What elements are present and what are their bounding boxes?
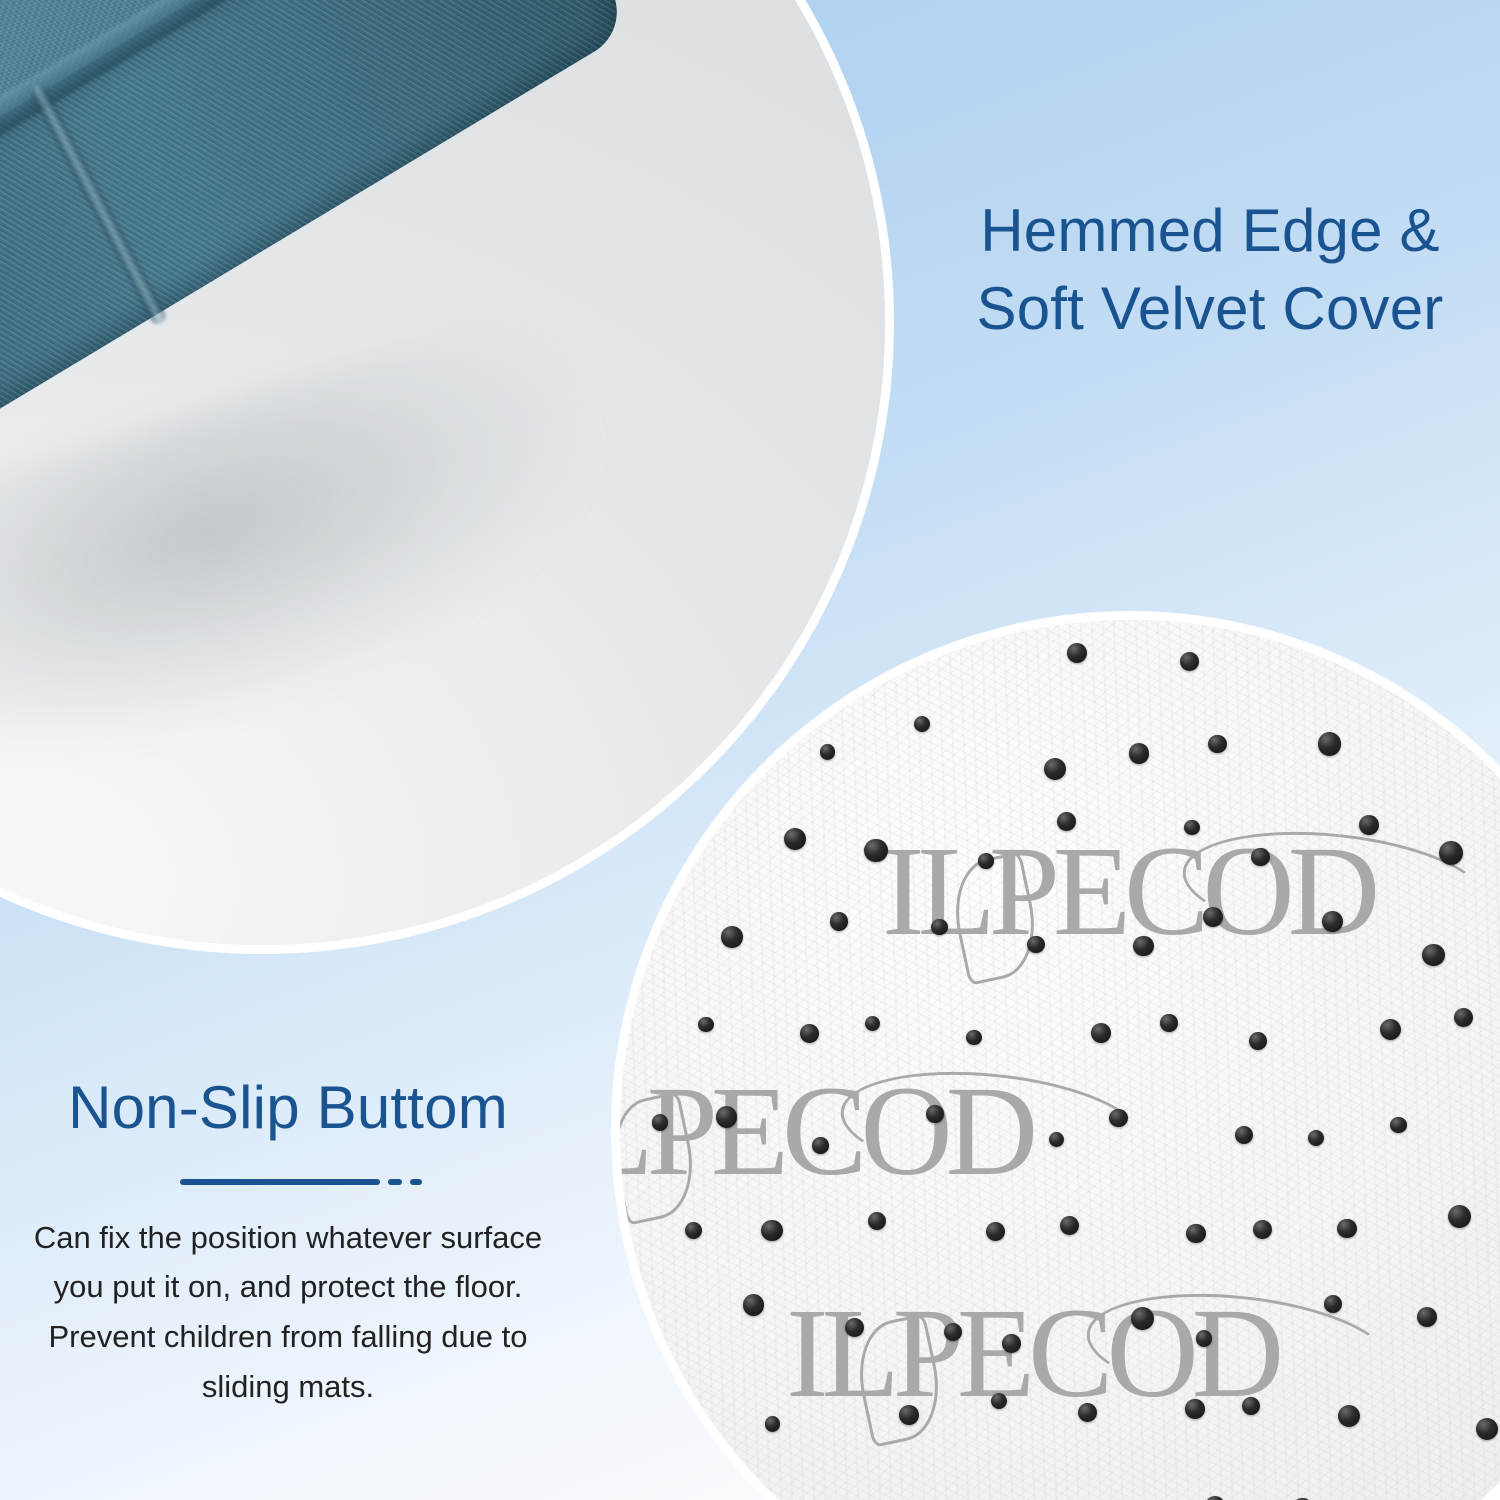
grip-dot bbox=[1338, 1405, 1360, 1427]
grip-dot bbox=[743, 1294, 765, 1316]
grip-dot bbox=[1205, 1496, 1225, 1500]
grip-dot bbox=[1380, 1019, 1401, 1040]
feature-headline-hemmed-edge: Hemmed Edge & Soft Velvet Cover bbox=[930, 192, 1490, 348]
grip-dot bbox=[761, 1220, 783, 1242]
grip-dot bbox=[1186, 1224, 1206, 1244]
grip-dot bbox=[1454, 1008, 1473, 1027]
grip-dot bbox=[1002, 1334, 1021, 1353]
body-line-1: Can fix the position whatever surface bbox=[8, 1213, 568, 1263]
grip-dot bbox=[845, 1318, 864, 1337]
grip-dot bbox=[899, 1405, 919, 1425]
feature-title-non-slip: Non-Slip Buttom bbox=[8, 1076, 568, 1141]
grip-dot bbox=[784, 828, 806, 850]
grip-dot bbox=[685, 1222, 702, 1239]
divider-dash-1 bbox=[388, 1179, 402, 1185]
feature-block-non-slip: Non-Slip Buttom Can fix the position wha… bbox=[8, 1076, 568, 1411]
grip-dot bbox=[1308, 1130, 1324, 1146]
grip-dot bbox=[1208, 735, 1227, 754]
grip-dot bbox=[1067, 643, 1087, 663]
grip-dot bbox=[1133, 936, 1153, 956]
grip-dot bbox=[1160, 1014, 1177, 1031]
grip-dot bbox=[865, 1016, 880, 1031]
body-line-2: you put it on, and protect the floor. bbox=[8, 1262, 568, 1312]
divider-bar bbox=[180, 1179, 380, 1185]
grip-dot bbox=[652, 1114, 668, 1130]
grip-dot bbox=[1253, 1220, 1272, 1239]
grip-dot bbox=[914, 716, 931, 733]
grip-dot bbox=[1129, 743, 1149, 763]
grip-dot bbox=[1131, 1307, 1154, 1330]
product-feature-infographic: ILPECOD ILPECOD ILPECOD Hemmed Edge & So… bbox=[0, 0, 1500, 1500]
grip-dot bbox=[1057, 812, 1076, 831]
grip-dot bbox=[1448, 1205, 1471, 1228]
headline-line-2: Soft Velvet Cover bbox=[930, 270, 1490, 348]
grip-dot bbox=[698, 1017, 714, 1033]
grip-dot bbox=[721, 926, 743, 948]
grip-dot bbox=[765, 1416, 781, 1432]
grip-dot bbox=[1180, 652, 1199, 671]
grip-dot bbox=[1417, 1307, 1437, 1327]
divider-dash-2 bbox=[410, 1179, 422, 1185]
grip-dot bbox=[820, 744, 835, 759]
grip-dot bbox=[1359, 815, 1379, 835]
grip-dot bbox=[800, 1024, 819, 1043]
grip-dot bbox=[991, 1393, 1007, 1409]
grip-dot bbox=[986, 1222, 1006, 1242]
feature-body-non-slip: Can fix the position whatever surface yo… bbox=[8, 1213, 568, 1411]
grip-dot bbox=[1203, 907, 1223, 927]
grip-dot bbox=[812, 1137, 828, 1153]
mat-grip-dots bbox=[620, 620, 1500, 1500]
grip-dot bbox=[830, 912, 849, 931]
grip-dot bbox=[1337, 1219, 1356, 1238]
grip-dot bbox=[716, 1106, 738, 1128]
grip-dot bbox=[926, 1105, 943, 1122]
grip-dot bbox=[1439, 841, 1463, 865]
grip-dot bbox=[1242, 1397, 1260, 1415]
grip-dot bbox=[1324, 1295, 1342, 1313]
grip-dot bbox=[1184, 820, 1199, 835]
grip-dot bbox=[978, 853, 994, 869]
grip-dot bbox=[1049, 1132, 1064, 1147]
body-line-3: Prevent children from falling due to bbox=[8, 1312, 568, 1362]
grip-dot bbox=[1318, 732, 1341, 755]
section-divider bbox=[148, 1169, 428, 1195]
grip-dot bbox=[1078, 1403, 1097, 1422]
grip-dot bbox=[868, 1212, 887, 1231]
grip-dot bbox=[1249, 1032, 1267, 1050]
headline-line-1: Hemmed Edge & bbox=[930, 192, 1490, 270]
grip-dot bbox=[1322, 911, 1343, 932]
grip-dot bbox=[864, 839, 888, 863]
grip-dot bbox=[1196, 1330, 1213, 1347]
grip-dot bbox=[1091, 1023, 1111, 1043]
grip-dot bbox=[1044, 758, 1066, 780]
grip-dot bbox=[1390, 1117, 1407, 1134]
grip-dot bbox=[931, 919, 948, 936]
grip-dot bbox=[1185, 1399, 1204, 1418]
grip-dot bbox=[1027, 936, 1045, 954]
grip-dot bbox=[1235, 1126, 1253, 1144]
nonslip-mat-photo-circle: ILPECOD ILPECOD ILPECOD bbox=[620, 620, 1500, 1500]
grip-dot bbox=[1422, 944, 1444, 966]
grip-dot bbox=[1060, 1216, 1079, 1235]
grip-dot bbox=[1251, 848, 1269, 866]
grip-dot bbox=[1109, 1109, 1127, 1127]
grip-dot bbox=[1476, 1418, 1498, 1440]
body-line-4: sliding mats. bbox=[8, 1362, 568, 1412]
grip-dot bbox=[966, 1030, 982, 1046]
grip-dot bbox=[944, 1323, 962, 1341]
